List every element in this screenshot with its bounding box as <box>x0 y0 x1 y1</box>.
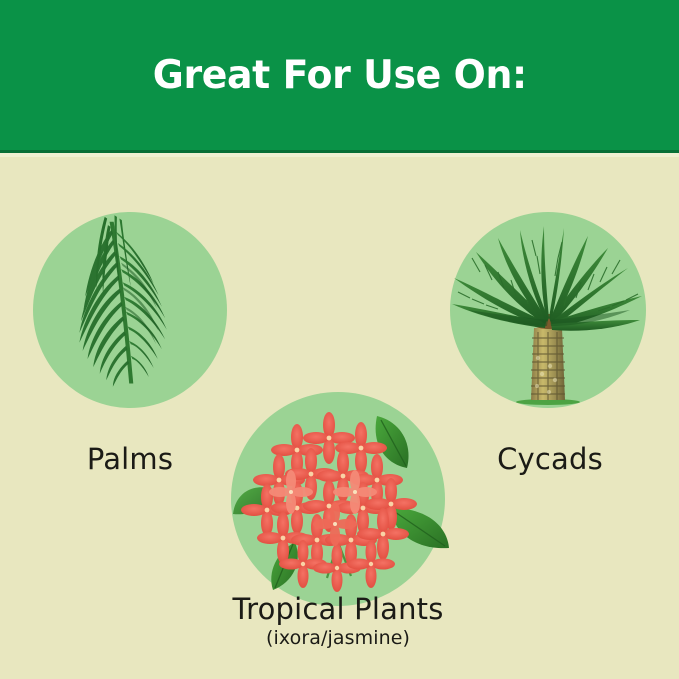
label-tropical-plants-subtext: (ixora/jasmine) <box>178 626 498 650</box>
tropical-plants-circle-backdrop <box>231 392 445 606</box>
product-usage-infographic: Great For Use On: <box>0 0 679 679</box>
header-highlight-stripe <box>0 153 679 157</box>
label-cycads: Cycads <box>420 442 679 476</box>
item-cycads <box>450 212 646 408</box>
item-tropical-plants <box>231 392 445 606</box>
label-tropical-plants: Tropical Plants (ixora/jasmine) <box>178 592 498 650</box>
label-cycads-text: Cycads <box>497 442 603 476</box>
page-title: Great For Use On: <box>153 53 527 98</box>
header-band: Great For Use On: <box>0 0 679 150</box>
cycads-circle-backdrop <box>450 212 646 408</box>
label-palms: Palms <box>0 442 260 476</box>
palms-circle-backdrop <box>33 212 227 408</box>
item-palms <box>33 212 227 408</box>
label-palms-text: Palms <box>87 442 173 476</box>
label-tropical-plants-text: Tropical Plants <box>178 592 498 626</box>
